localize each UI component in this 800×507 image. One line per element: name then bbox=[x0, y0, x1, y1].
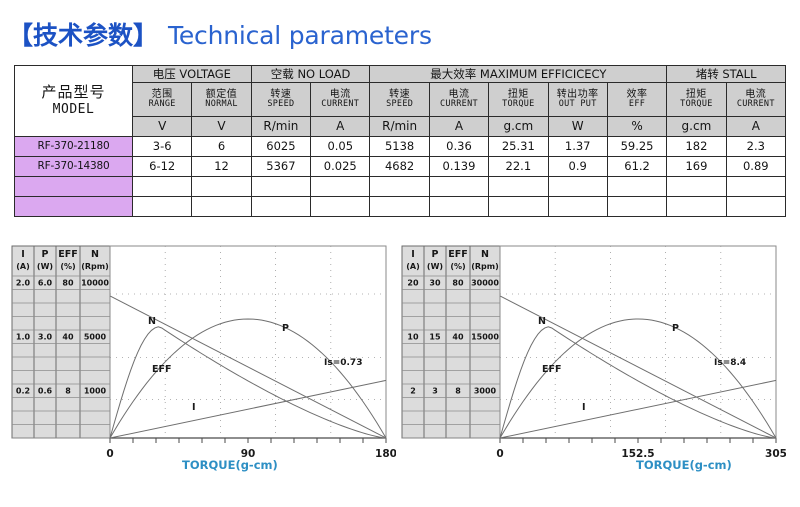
spec-unit-1: V bbox=[192, 117, 251, 137]
spec-subheader-2: 转速SPEED bbox=[251, 83, 310, 117]
scale-level-value: 0.2 bbox=[16, 387, 30, 396]
spec-value-cell[interactable] bbox=[489, 197, 548, 217]
spec-value-cell[interactable] bbox=[251, 197, 310, 217]
spec-unit-8: % bbox=[607, 117, 666, 137]
spec-subheader-8: 效率EFF bbox=[607, 83, 666, 117]
spec-value-cell[interactable]: 25.31 bbox=[489, 137, 548, 157]
scale-level-value: 5000 bbox=[84, 333, 107, 342]
performance-charts: I(A)P(W)EFF(%)N(Rpm)2.06.080100001.03.04… bbox=[0, 240, 800, 505]
series-label-I: I bbox=[192, 402, 196, 413]
scale-level-value: 6.0 bbox=[38, 279, 53, 288]
spec-value-cell[interactable]: 0.025 bbox=[311, 157, 370, 177]
scale-col-symbol: I bbox=[411, 249, 415, 260]
spec-subheader-4: 转速SPEED bbox=[370, 83, 429, 117]
x-tick-label: 180 bbox=[375, 448, 396, 460]
scale-col-unit: (W) bbox=[37, 262, 53, 271]
scale-col-unit: (%) bbox=[450, 262, 465, 271]
spec-group-header-1: 空载 NO LOAD bbox=[251, 66, 370, 83]
table-row[interactable] bbox=[15, 197, 786, 217]
spec-subheader-0: 范围RANGE bbox=[133, 83, 192, 117]
spec-value-cell[interactable]: 2.3 bbox=[726, 137, 785, 157]
scale-col-unit: (Rpm) bbox=[471, 262, 499, 271]
spec-value-cell[interactable]: 6025 bbox=[251, 137, 310, 157]
spec-value-cell[interactable]: 22.1 bbox=[489, 157, 548, 177]
scale-level-value: 10 bbox=[407, 333, 419, 342]
series-label-P: P bbox=[282, 323, 289, 334]
spec-value-cell[interactable] bbox=[607, 197, 666, 217]
spec-value-cell[interactable] bbox=[548, 197, 607, 217]
x-tick-label: 0 bbox=[496, 448, 503, 460]
spec-value-cell[interactable]: 1.37 bbox=[548, 137, 607, 157]
spec-value-cell[interactable]: 6-12 bbox=[133, 157, 192, 177]
scale-level-value: 40 bbox=[62, 333, 74, 342]
spec-value-cell[interactable] bbox=[667, 177, 726, 197]
spec-value-cell[interactable] bbox=[607, 177, 666, 197]
spec-model-header-cn: 产品型号 bbox=[15, 85, 132, 103]
spec-model-cell[interactable]: RF-370-14380 bbox=[15, 157, 133, 177]
spec-value-cell[interactable]: 182 bbox=[667, 137, 726, 157]
spec-group-header-3: 堵转 STALL bbox=[667, 66, 786, 83]
spec-model-header-en: MODEL bbox=[15, 103, 132, 117]
spec-value-cell[interactable]: 0.89 bbox=[726, 157, 785, 177]
spec-value-cell[interactable]: 169 bbox=[667, 157, 726, 177]
spec-unit-9: g.cm bbox=[667, 117, 726, 137]
spec-value-cell[interactable]: 0.05 bbox=[311, 137, 370, 157]
spec-subheader-en-4: SPEED bbox=[370, 100, 428, 109]
spec-model-header-cell: 产品型号MODEL bbox=[15, 66, 133, 137]
spec-subheader-7: 转出功率OUT PUT bbox=[548, 83, 607, 117]
scale-level-value: 80 bbox=[452, 279, 464, 288]
scale-level-value: 80 bbox=[62, 279, 74, 288]
spec-value-cell[interactable] bbox=[192, 197, 251, 217]
scale-level-value: 20 bbox=[407, 279, 419, 288]
chart-plot-area: 0152.5305NPEFFIIs=8.4 bbox=[496, 246, 786, 460]
scale-level-value: 3 bbox=[432, 387, 438, 396]
x-tick-label: 0 bbox=[106, 448, 113, 460]
x-tick-label: 305 bbox=[765, 448, 786, 460]
spec-subheader-en-2: SPEED bbox=[252, 100, 310, 109]
spec-value-cell[interactable] bbox=[133, 177, 192, 197]
scale-col-unit: (A) bbox=[406, 262, 420, 271]
scale-col-symbol: EFF bbox=[448, 249, 467, 260]
spec-value-cell[interactable]: 61.2 bbox=[607, 157, 666, 177]
spec-table: 产品型号MODEL电压 VOLTAGE空载 NO LOAD最大效率 MAXIMU… bbox=[14, 65, 786, 217]
spec-value-cell[interactable] bbox=[311, 177, 370, 197]
page-title: 【技术参数】 Technical parameters bbox=[8, 16, 432, 52]
scale-level-value: 3.0 bbox=[38, 333, 53, 342]
chart-right-xaxis-label: TORQUE(g-cm) bbox=[636, 458, 732, 472]
chart-scale-table: I(A)P(W)EFF(%)N(Rpm)20308030000101540150… bbox=[402, 246, 500, 438]
spec-subheader-en-0: RANGE bbox=[133, 100, 191, 109]
scale-level-value: 10000 bbox=[81, 279, 109, 288]
scale-level-value: 40 bbox=[452, 333, 464, 342]
spec-value-cell[interactable]: 3-6 bbox=[133, 137, 192, 157]
spec-value-cell[interactable] bbox=[489, 177, 548, 197]
chart-annotation-stall-current: Is=0.73 bbox=[324, 358, 362, 368]
spec-group-header-0: 电压 VOLTAGE bbox=[133, 66, 252, 83]
spec-model-cell[interactable] bbox=[15, 197, 133, 217]
scale-level-value: 3000 bbox=[474, 387, 497, 396]
performance-chart-right: I(A)P(W)EFF(%)N(Rpm)20308030000101540150… bbox=[396, 240, 786, 505]
spec-value-cell[interactable] bbox=[667, 197, 726, 217]
spec-group-header-row: 产品型号MODEL电压 VOLTAGE空载 NO LOAD最大效率 MAXIMU… bbox=[15, 66, 786, 83]
scale-level-value: 8 bbox=[65, 387, 71, 396]
spec-model-cell[interactable]: RF-370-21180 bbox=[15, 137, 133, 157]
spec-unit-3: A bbox=[311, 117, 370, 137]
spec-model-cell[interactable] bbox=[15, 177, 133, 197]
spec-value-cell[interactable]: 6 bbox=[192, 137, 251, 157]
series-label-P: P bbox=[672, 323, 679, 334]
chart-plot-area: 090180NPEFFIIs=0.73 bbox=[106, 246, 396, 460]
spec-unit-5: A bbox=[429, 117, 488, 137]
spec-subheader-9: 扭矩TORQUE bbox=[667, 83, 726, 117]
scale-col-symbol: P bbox=[42, 249, 49, 260]
scale-level-value: 1.0 bbox=[16, 333, 31, 342]
table-row[interactable] bbox=[15, 177, 786, 197]
scale-col-symbol: P bbox=[432, 249, 439, 260]
page-root: 【技术参数】 Technical parameters 产品型号MODEL电压 … bbox=[0, 0, 800, 507]
spec-value-cell[interactable]: 0.139 bbox=[429, 157, 488, 177]
spec-value-cell[interactable]: 5367 bbox=[251, 157, 310, 177]
scale-col-symbol: EFF bbox=[58, 249, 77, 260]
scale-level-value: 0.6 bbox=[38, 387, 53, 396]
spec-subheader-5: 电流CURRENT bbox=[429, 83, 488, 117]
scale-table-bg bbox=[12, 246, 110, 438]
scale-col-symbol: I bbox=[21, 249, 25, 260]
spec-subheader-en-8: EFF bbox=[608, 100, 666, 109]
spec-value-cell[interactable]: 59.25 bbox=[607, 137, 666, 157]
scale-col-unit: (Rpm) bbox=[81, 262, 109, 271]
table-row[interactable]: RF-370-211803-6660250.0551380.3625.311.3… bbox=[15, 137, 786, 157]
spec-subheader-3: 电流CURRENT bbox=[311, 83, 370, 117]
table-row[interactable]: RF-370-143806-121253670.02546820.13922.1… bbox=[15, 157, 786, 177]
spec-subheader-en-7: OUT PUT bbox=[549, 100, 607, 109]
spec-subheader-1: 额定值NORMAL bbox=[192, 83, 251, 117]
scale-col-unit: (A) bbox=[16, 262, 30, 271]
scale-table-bg bbox=[402, 246, 500, 438]
spec-unit-6: g.cm bbox=[489, 117, 548, 137]
scale-level-value: 2 bbox=[410, 387, 416, 396]
scale-col-unit: (W) bbox=[427, 262, 443, 271]
scale-level-value: 8 bbox=[455, 387, 461, 396]
spec-value-cell[interactable] bbox=[429, 197, 488, 217]
spec-subheader-en-3: CURRENT bbox=[311, 100, 369, 109]
spec-table-wrapper: 产品型号MODEL电压 VOLTAGE空载 NO LOAD最大效率 MAXIMU… bbox=[14, 65, 786, 217]
spec-unit-2: R/min bbox=[251, 117, 310, 137]
spec-value-cell[interactable] bbox=[311, 197, 370, 217]
spec-subheader-en-1: NORMAL bbox=[192, 100, 250, 109]
scale-col-unit: (%) bbox=[60, 262, 75, 271]
scale-col-symbol: N bbox=[91, 249, 99, 260]
spec-unit-0: V bbox=[133, 117, 192, 137]
spec-subheader-en-10: CURRENT bbox=[727, 100, 785, 109]
spec-subheader-10: 电流CURRENT bbox=[726, 83, 785, 117]
series-label-N: N bbox=[148, 316, 156, 327]
spec-unit-10: A bbox=[726, 117, 785, 137]
page-title-cn: 【技术参数】 bbox=[8, 16, 158, 52]
spec-value-cell[interactable] bbox=[429, 177, 488, 197]
spec-value-cell[interactable] bbox=[370, 197, 429, 217]
scale-level-value: 30 bbox=[429, 279, 441, 288]
spec-value-cell[interactable]: 5138 bbox=[370, 137, 429, 157]
scale-col-symbol: N bbox=[481, 249, 489, 260]
spec-subheader-6: 扭矩TORQUE bbox=[489, 83, 548, 117]
spec-value-cell[interactable]: 0.9 bbox=[548, 157, 607, 177]
scale-level-value: 1000 bbox=[84, 387, 107, 396]
series-label-EFF: EFF bbox=[152, 364, 171, 375]
scale-level-value: 15 bbox=[429, 333, 441, 342]
spec-value-cell[interactable] bbox=[133, 197, 192, 217]
chart-scale-table: I(A)P(W)EFF(%)N(Rpm)2.06.080100001.03.04… bbox=[12, 246, 110, 438]
spec-value-cell[interactable]: 12 bbox=[192, 157, 251, 177]
spec-subheader-en-6: TORQUE bbox=[489, 100, 547, 109]
scale-level-value: 2.0 bbox=[16, 279, 31, 288]
spec-value-cell[interactable]: 0.36 bbox=[429, 137, 488, 157]
spec-value-cell[interactable] bbox=[370, 177, 429, 197]
spec-group-header-2: 最大效率 MAXIMUM EFFICICECY bbox=[370, 66, 667, 83]
spec-unit-4: R/min bbox=[370, 117, 429, 137]
spec-value-cell[interactable] bbox=[251, 177, 310, 197]
spec-value-cell[interactable] bbox=[548, 177, 607, 197]
chart-left-xaxis-label: TORQUE(g-cm) bbox=[182, 458, 278, 472]
spec-unit-7: W bbox=[548, 117, 607, 137]
spec-subheader-en-5: CURRENT bbox=[430, 100, 488, 109]
chart-annotation-stall-current: Is=8.4 bbox=[714, 358, 746, 368]
spec-value-cell[interactable] bbox=[726, 177, 785, 197]
performance-chart-left: I(A)P(W)EFF(%)N(Rpm)2.06.080100001.03.04… bbox=[6, 240, 396, 505]
spec-value-cell[interactable] bbox=[192, 177, 251, 197]
series-label-N: N bbox=[538, 316, 546, 327]
spec-subheader-en-9: TORQUE bbox=[667, 100, 725, 109]
scale-level-value: 15000 bbox=[471, 333, 499, 342]
spec-value-cell[interactable] bbox=[726, 197, 785, 217]
scale-level-value: 30000 bbox=[471, 279, 499, 288]
spec-value-cell[interactable]: 4682 bbox=[370, 157, 429, 177]
page-title-en: Technical parameters bbox=[168, 21, 432, 50]
series-label-EFF: EFF bbox=[542, 364, 561, 375]
series-label-I: I bbox=[582, 402, 586, 413]
